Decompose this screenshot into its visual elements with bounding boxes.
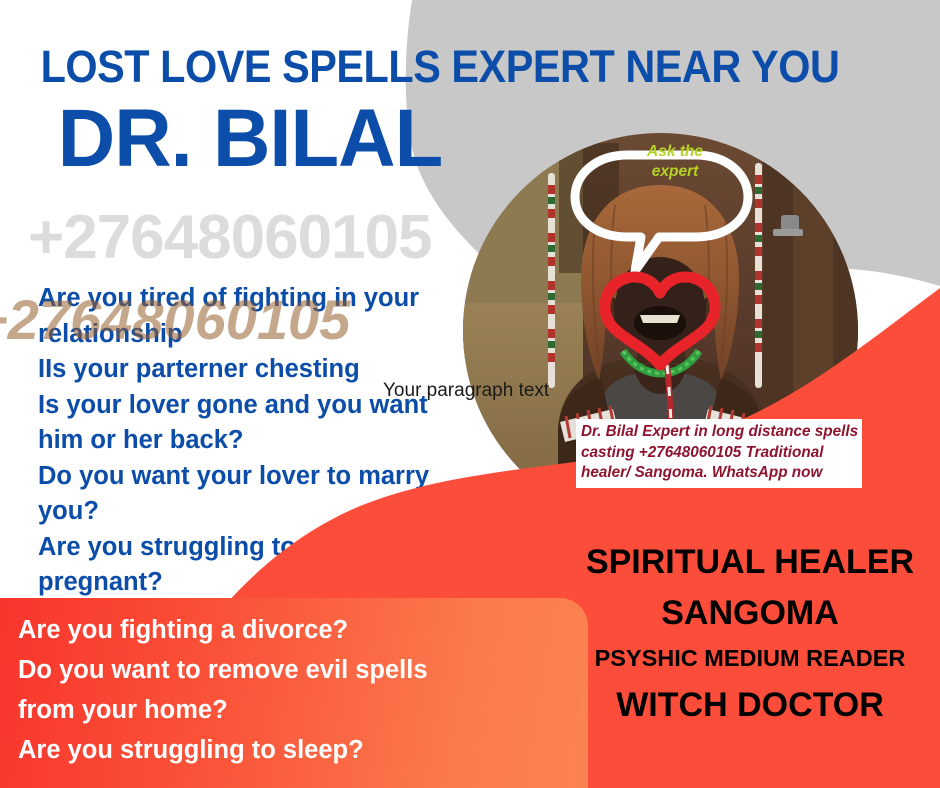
page-title: LOST LOVE SPELLS EXPERT NEAR YOU [35, 44, 845, 89]
photo-caption-line: Dr. Bilal Expert in long distance spells [581, 422, 857, 443]
list-item: Are you struggling to become [38, 530, 478, 566]
speech-bubble-text: Ask the expert [627, 142, 723, 182]
phone-number-ghost: +27648060105 [28, 207, 432, 269]
photo-caption-line: healer/ Sangoma. WhatsApp now [581, 463, 857, 484]
headline-container: LOST LOVE SPELLS EXPERT NEAR YOU [0, 44, 880, 89]
list-item: him or her back? [38, 423, 478, 459]
service-item: PSYSHIC MEDIUM READER [560, 647, 940, 671]
speech-bubble-line-1: Ask the [627, 142, 723, 162]
poster-canvas: LOST LOVE SPELLS EXPERT NEAR YOU DR. BIL… [0, 0, 940, 788]
panel-list-item: from your home? [18, 698, 228, 724]
paragraph-placeholder-text: Your paragraph text [383, 380, 549, 402]
panel-list-item: Do you want to remove evil spells [18, 658, 428, 684]
service-item: SANGOMA [560, 596, 940, 630]
blue-question-list: Are you tired of fighting in your relati… [38, 281, 478, 601]
service-item: SPIRITUAL HEALER [560, 545, 940, 579]
list-item: you? [38, 494, 478, 530]
list-item: Do you want your lover to marry [38, 459, 478, 495]
orange-question-panel: Are you fighting a divorce? Do you want … [0, 598, 588, 788]
list-item: relationship [38, 317, 478, 353]
list-item: Are you tired of fighting in your [38, 281, 478, 317]
list-item: pregnant? [38, 565, 478, 601]
panel-list-item: Are you fighting a divorce? [18, 618, 348, 644]
speech-bubble-line-2: expert [627, 162, 723, 182]
service-item: WITCH DOCTOR [560, 688, 940, 722]
panel-list-item: Are you struggling to sleep? [18, 738, 364, 764]
services-list: SPIRITUAL HEALER SANGOMA PSYSHIC MEDIUM … [560, 545, 940, 722]
doctor-name-title: DR. BILAL [8, 98, 493, 180]
photo-caption-box: Dr. Bilal Expert in long distance spells… [576, 419, 862, 488]
photo-caption-line: casting +27648060105 Traditional [581, 443, 857, 464]
